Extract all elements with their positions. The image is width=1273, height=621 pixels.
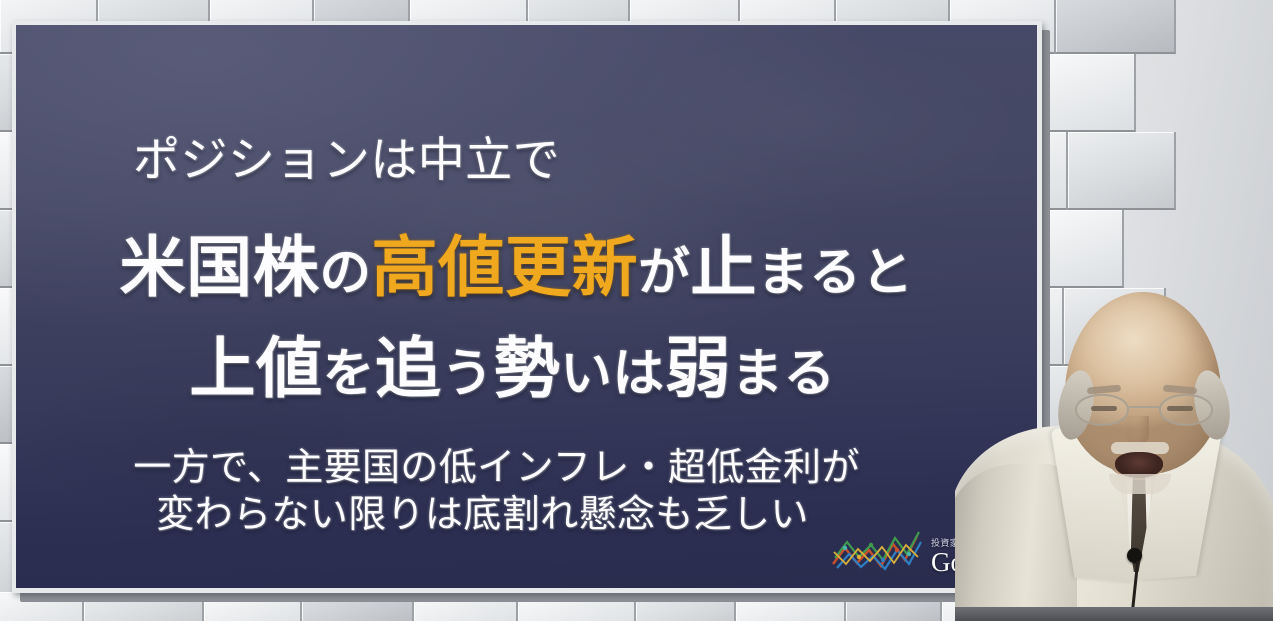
slide-line-2-highlight: 高値更新 (372, 229, 639, 306)
suit-sleeve (955, 464, 1077, 621)
lens-left (1075, 394, 1129, 426)
slide-line-3-seg-4: う (442, 344, 494, 404)
lens-right (1159, 394, 1213, 426)
presenter (955, 278, 1273, 621)
slide-line-3-seg-3: 追 (375, 330, 442, 407)
slide-line-3-seg-5: 勢 (494, 330, 561, 407)
slide-line-2-seg-6: まると (757, 243, 913, 303)
zigzag-chart-logo-icon (831, 530, 923, 576)
slide-line-3-seg-8: まる (731, 344, 835, 404)
slide-line-2: 米国株の高値更新が止まると (16, 214, 1037, 310)
desk-edge (955, 607, 1273, 621)
slide-line-3: 上値を追う勢いは弱まる (16, 315, 1037, 411)
glasses-bridge (1129, 406, 1161, 408)
slide-line-2-seg-5: 止 (690, 229, 757, 306)
slide-line-2-seg-1: 米国株 (120, 229, 320, 306)
slide-canvas: ポジションは中立で 米国株の高値更新が止まると 上値を追う勢いは弱まる 一方で、… (16, 25, 1037, 588)
lapel-microphone-icon (1127, 548, 1142, 563)
slide-line-2-seg-2: の (320, 243, 372, 303)
slide-line-1: ポジションは中立で (16, 121, 1037, 190)
slide-line-3-seg-1: 上値 (189, 330, 322, 407)
presentation-board-frame: ポジションは中立で 米国株の高値更新が止まると 上値を追う勢いは弱まる 一方で、… (12, 21, 1042, 593)
slide-line-3-seg-2: を (323, 344, 375, 404)
slide-line-3-seg-6: いは (560, 344, 664, 404)
slide-line-3-seg-7: 弱 (665, 330, 732, 407)
slide-line-2-seg-4: が (638, 243, 690, 303)
